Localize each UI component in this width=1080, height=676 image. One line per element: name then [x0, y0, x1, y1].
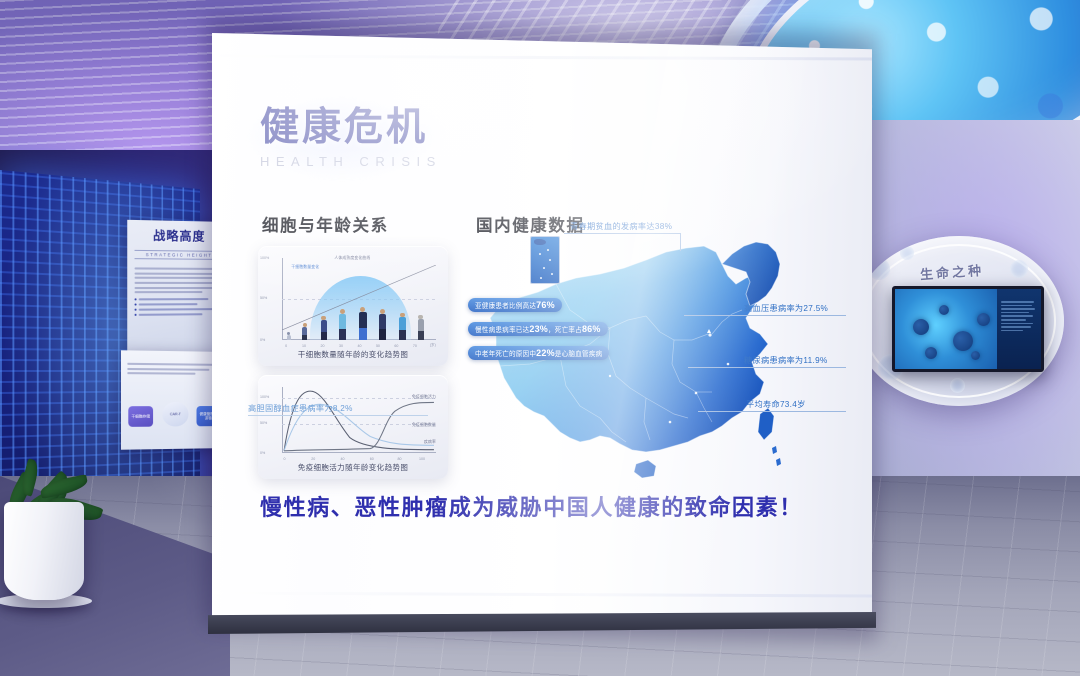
chart1-xtick-6: 60 — [394, 344, 398, 348]
chart1-xtick-0: 0 — [285, 344, 287, 348]
cell-imagery — [895, 289, 997, 369]
page-title: 健康危机 — [260, 108, 442, 147]
health-crisis-display-panel[interactable]: 健康危机 HEALTH CRISIS 细胞与年龄关系 国内健康数据 100% 5… — [212, 30, 872, 630]
life-seed-screen[interactable] — [892, 286, 1044, 372]
callout-diabetes: 糖尿病患病率为11.9% — [744, 354, 828, 366]
callout-hypertension: 高血压患病率为27.5% — [744, 302, 828, 314]
chart1-xtick-3: 30 — [339, 344, 343, 348]
figure-elderly — [418, 315, 424, 341]
chart2-caption: 免疫细胞活力随年龄变化趋势图 — [258, 462, 448, 473]
map-tag-chronic: 慢性病患病率已达23%，死亡率占86% — [468, 322, 608, 336]
chart2-xtick-5: 100 — [419, 457, 425, 461]
chart2-ytick-0: 100% — [260, 395, 269, 399]
map-tag-cardio: 中老年死亡的原因中22%是心脑血管疾病 — [468, 346, 609, 360]
chart-card-stemcell[interactable]: 100% 50% 0% 干细胞数量变化 人体成熟度变化曲线 — [258, 246, 448, 366]
page-subtitle: HEALTH CRISIS — [260, 154, 442, 169]
figure-adult — [359, 307, 367, 340]
chart1-xtick-5: 50 — [376, 344, 380, 348]
china-map-svg — [460, 236, 846, 496]
chart2-xtick-2: 40 — [341, 457, 345, 461]
screen-panel-heading — [1001, 294, 1037, 298]
callout-anemia: 青春期贫血的发病率达38% — [570, 220, 672, 232]
chart2-xtick-3: 60 — [370, 457, 374, 461]
chart1-plot: 100% 50% 0% 干细胞数量变化 人体成熟度变化曲线 — [282, 258, 436, 340]
chart1-xtick-2: 20 — [321, 344, 325, 348]
chart2-xtick-4: 80 — [398, 457, 402, 461]
chip-stemcell[interactable]: 干细胞存储 — [128, 406, 153, 427]
china-map[interactable]: 亚健康患者比例高达76% 慢性病患病率已达23%，死亡率占86% 中老年死亡的原… — [460, 236, 846, 496]
chart2-plot: 100% 50% 0% 免疫细胞活力 免疫细胞数量 疾病率 0 20 — [282, 387, 436, 453]
chart2-xtick-0: 0 — [284, 457, 286, 461]
chart1-xtick-1: 10 — [302, 344, 306, 348]
figure-child — [302, 323, 307, 340]
figure-senior — [399, 313, 406, 341]
chart1-xtick-4: 40 — [357, 344, 361, 348]
chart2-ytick-1: 50% — [260, 421, 267, 425]
south-china-sea-inset — [530, 236, 560, 284]
chart1-xtick-7: 70 — [413, 344, 417, 348]
chart2-legend-1: 免疫细胞数量 — [412, 423, 436, 428]
figure-young-adult — [339, 309, 346, 340]
exhibition-hall-photo: 战略高度 STRATEGIC HEIGHT 干细胞存储 CAR-T 健康管理下游… — [0, 0, 1080, 676]
callout-life-expectancy: 平均寿命73.4岁 — [746, 398, 806, 410]
chart2-ytick-2: 0% — [260, 451, 265, 455]
section-heading-cells: 细胞与年龄关系 — [262, 212, 389, 236]
screen-side-panel — [997, 289, 1041, 369]
panel-headline: 慢性病、恶性肿瘤成为威胁中国人健康的致命因素！ — [260, 490, 803, 522]
planter-pot — [4, 502, 84, 600]
callout-cholesterol: 高胆固醇血症患病率为8.2% — [248, 402, 353, 414]
chart1-ytick-2: 0% — [260, 338, 265, 342]
chart1-label-decline: 干细胞数量变化 — [291, 265, 319, 270]
chart2-legend-2: 疾病率 — [424, 440, 436, 445]
chart1-xunit: (岁) — [430, 343, 436, 348]
chart2-legend-0: 免疫细胞活力 — [412, 395, 436, 400]
chart1-label-hump: 人体成熟度变化曲线 — [334, 256, 370, 261]
figure-middle-age — [379, 309, 386, 340]
chart2-xtick-1: 20 — [311, 457, 315, 461]
map-tag-subhealth: 亚健康患者比例高达76% — [468, 298, 562, 312]
chip-cart[interactable]: CAR-T — [162, 402, 188, 427]
figure-infant — [287, 332, 291, 340]
chart-card-immunity[interactable]: 100% 50% 0% 免疫细胞活力 免疫细胞数量 疾病率 0 20 — [258, 375, 448, 479]
panel-title-group: 健康危机 HEALTH CRISIS — [260, 108, 442, 169]
chart1-ytick-0: 100% — [260, 256, 269, 260]
chart1-caption: 干细胞数量随年龄的变化趋势图 — [258, 349, 448, 360]
figure-teen — [321, 316, 327, 341]
chart1-ytick-1: 50% — [260, 296, 267, 300]
